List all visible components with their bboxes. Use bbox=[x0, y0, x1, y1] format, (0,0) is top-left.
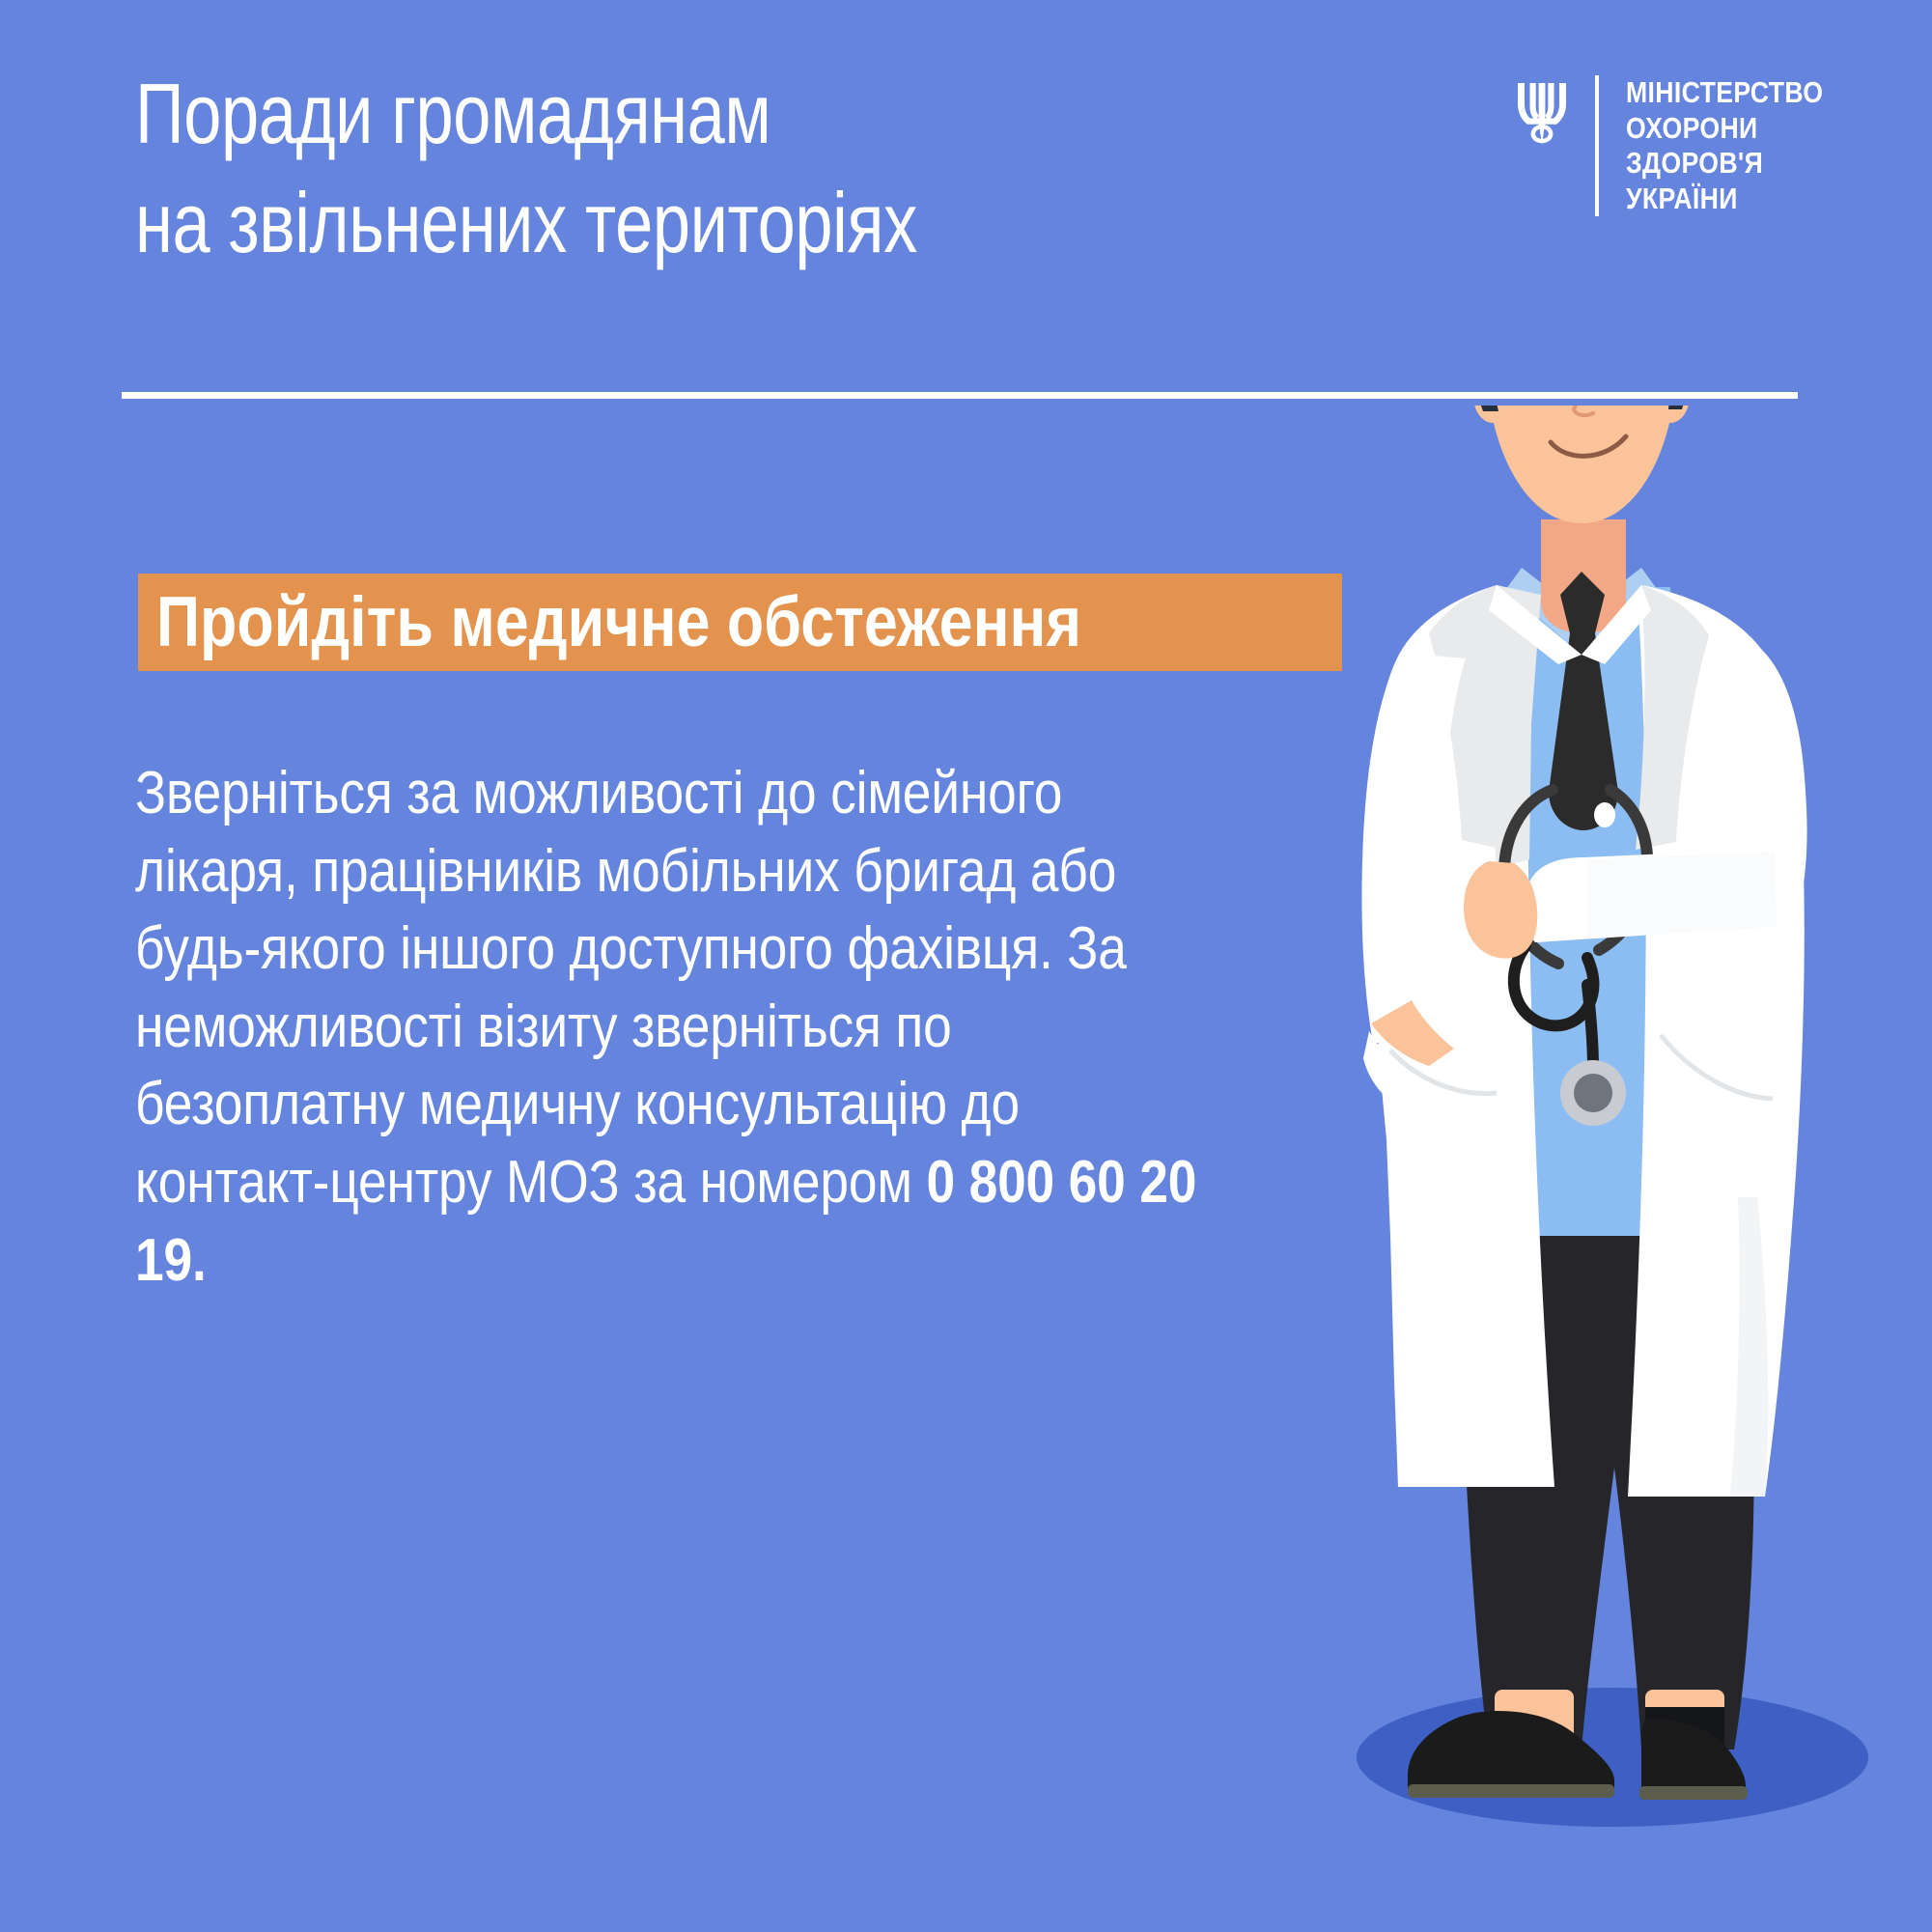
section-banner: Пройдіть медичне обстеження bbox=[138, 574, 1342, 671]
doctor-illustration bbox=[1352, 406, 1932, 1932]
left-shoe-sole bbox=[1408, 1784, 1614, 1798]
poster-header: Поради громадянам на звільнених територі… bbox=[0, 0, 1932, 396]
right-sleeve-shade bbox=[1587, 852, 1777, 938]
page-title: Поради громадянам на звільнених територі… bbox=[135, 60, 1155, 277]
section-banner-label: Пройдіть медичне обстеження bbox=[138, 587, 1081, 658]
tie-pin bbox=[1594, 802, 1615, 827]
poster-canvas: Поради громадянам на звільнених територі… bbox=[0, 0, 1932, 1932]
ministry-logo: МІНІСТЕРСТВО ОХОРОНИ ЗДОРОВ'Я УКРАЇНИ bbox=[1516, 75, 1856, 216]
header-divider bbox=[122, 392, 1798, 399]
ukraine-trident-icon bbox=[1516, 79, 1568, 149]
face bbox=[1487, 406, 1676, 523]
stethoscope-stem bbox=[1587, 985, 1593, 1068]
body-paragraph: Зверніться за можливості до сімейного лі… bbox=[135, 755, 1223, 1300]
logo-text: МІНІСТЕРСТВО ОХОРОНИ ЗДОРОВ'Я УКРАЇНИ bbox=[1626, 75, 1823, 216]
stethoscope-chestpiece bbox=[1574, 1074, 1612, 1112]
right-shoe-sole bbox=[1639, 1786, 1748, 1800]
body-paragraph-lead: Зверніться за можливості до сімейного лі… bbox=[135, 760, 1127, 1216]
logo-divider bbox=[1595, 75, 1599, 216]
